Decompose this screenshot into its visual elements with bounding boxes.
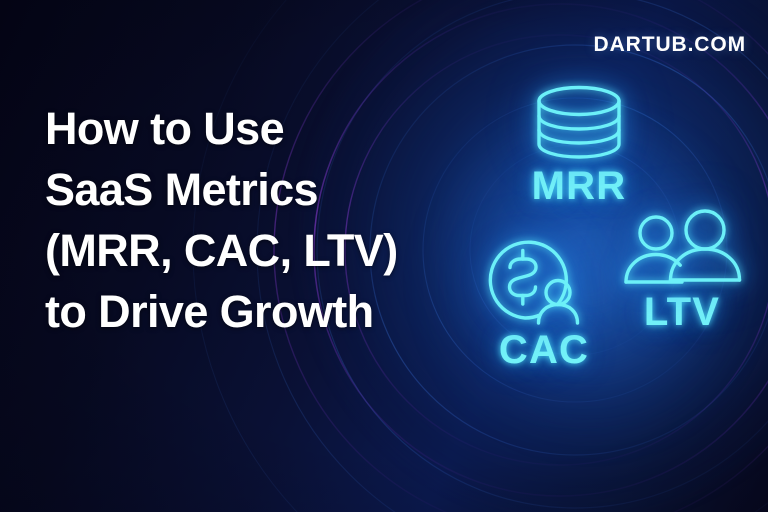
title-line-2: SaaS Metrics (45, 159, 437, 220)
thumbnail-canvas: DARTUB.COM How to Use SaaS Metrics (MRR,… (0, 0, 768, 512)
title-line-4: to Drive Growth (45, 281, 437, 342)
title-line-3: (MRR, CAC, LTV) (45, 220, 437, 281)
page-title: How to Use SaaS Metrics (MRR, CAC, LTV) … (45, 98, 437, 342)
title-line-1: How to Use (45, 98, 437, 159)
site-logo-text: DARTUB.COM (594, 33, 746, 57)
